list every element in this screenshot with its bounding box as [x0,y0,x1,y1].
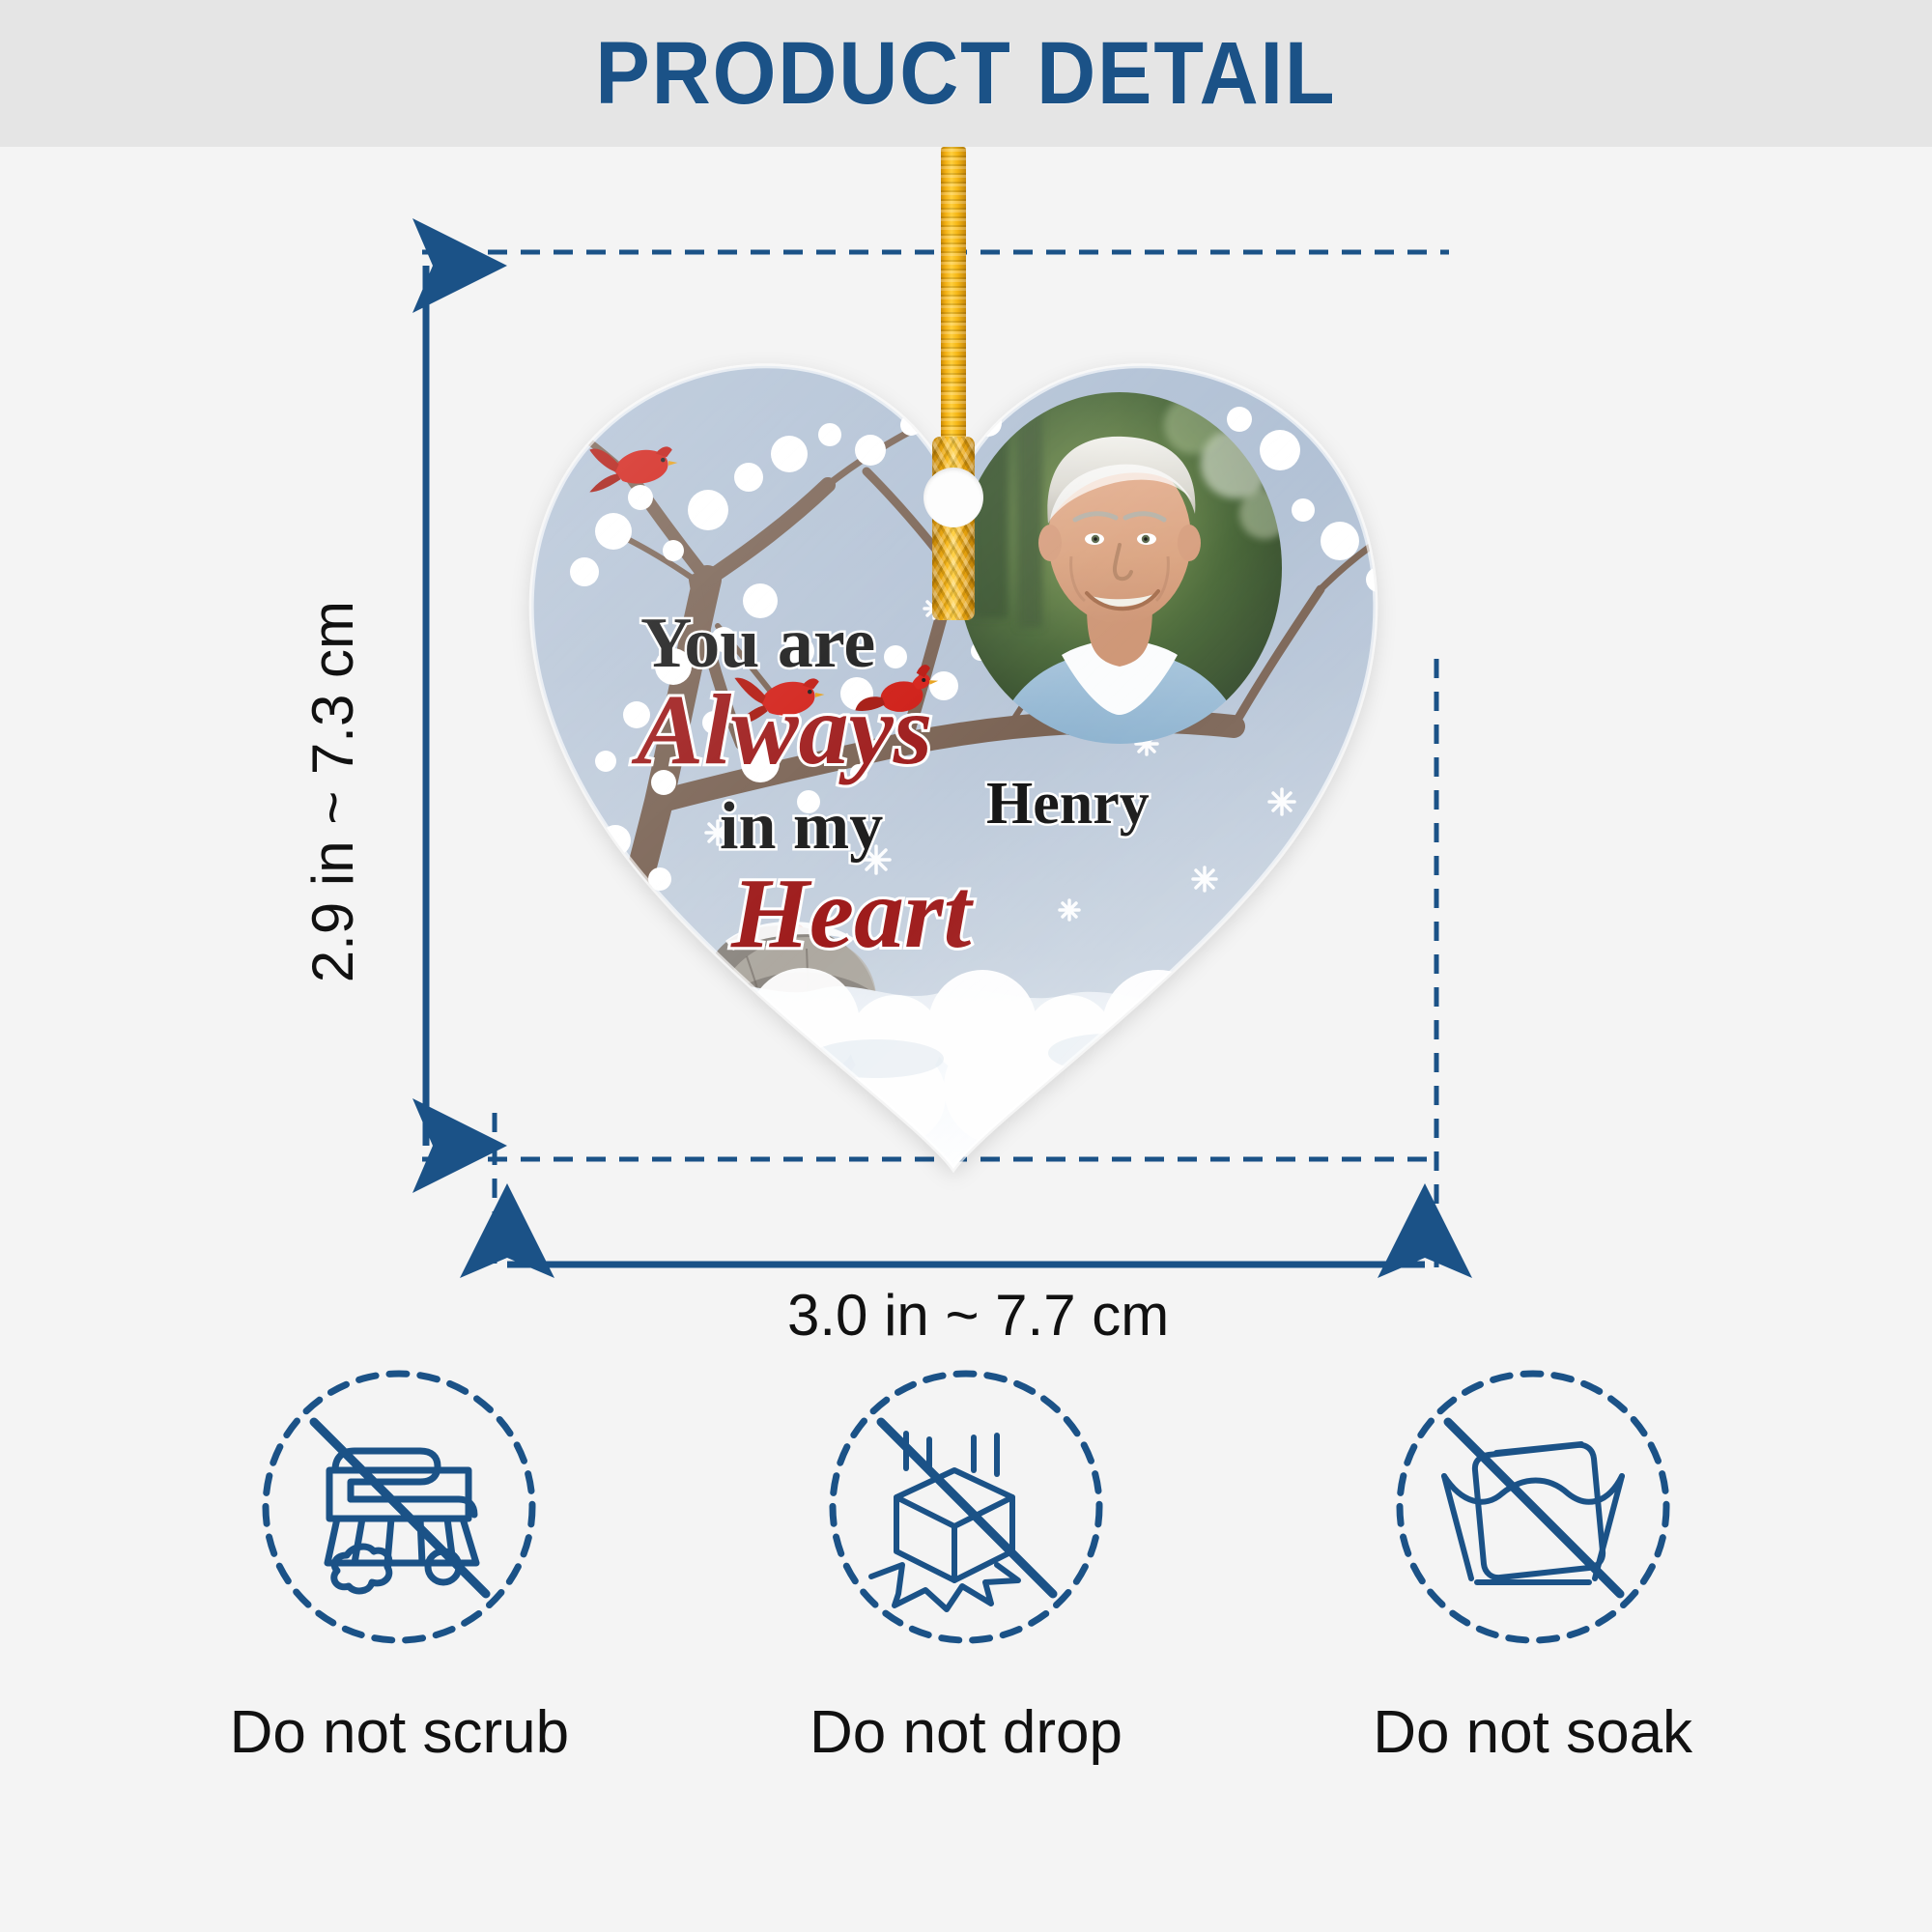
care-item-no-drop: Do not drop [753,1362,1179,1767]
dimension-width-label: 3.0 in ~ 7.7 cm [787,1282,1169,1349]
no-soak-icon [1388,1362,1678,1652]
care-label-no-scrub: Do not scrub [230,1698,570,1767]
care-instructions: Do not scrub [0,1362,1932,1767]
dimension-height-label: 2.9 in ~ 7.3 cm [299,601,366,982]
care-label-no-soak: Do not soak [1373,1698,1692,1767]
no-scrub-icon [254,1362,544,1652]
header-band: PRODUCT DETAIL [0,0,1932,147]
no-drop-icon [821,1362,1111,1652]
ornament-hanging-hole [923,468,983,527]
gold-cord-knot [932,437,975,620]
product-detail-stage: 2.9 in ~ 7.3 cm 3.0 in ~ 7.7 cm [0,147,1932,1932]
care-item-no-soak: Do not soak [1321,1362,1746,1767]
ornament: You are Always in my Heart Henry [470,147,1436,1229]
page-title: PRODUCT DETAIL [595,23,1336,125]
care-label-no-drop: Do not drop [810,1698,1122,1767]
care-item-no-scrub: Do not scrub [186,1362,611,1767]
gold-cord [941,147,966,466]
